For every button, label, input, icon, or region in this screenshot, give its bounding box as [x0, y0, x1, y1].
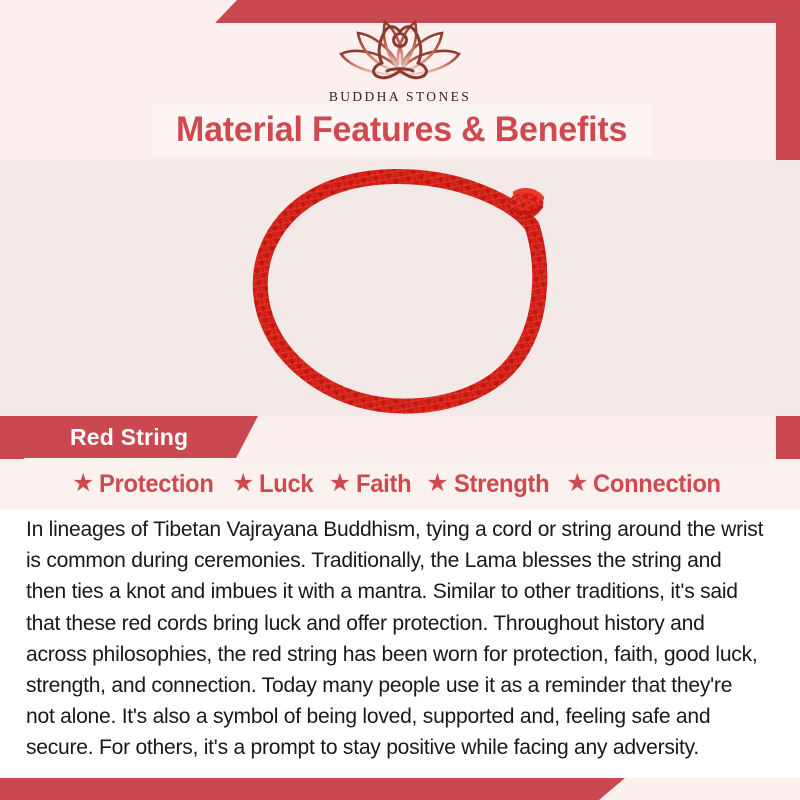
benefit-item-faith: ★ Faith — [329, 470, 415, 499]
benefit-label: Luck — [259, 470, 313, 499]
star-icon: ★ — [329, 471, 351, 496]
benefit-label: Protection — [99, 470, 214, 499]
title-banner: Material Features & Benefits — [152, 104, 652, 156]
benefit-label: Strength — [454, 470, 549, 499]
product-image-panel — [0, 160, 800, 416]
benefit-item-strength: ★ Strength — [426, 470, 554, 499]
benefit-item-connection: ★ Connection — [566, 470, 728, 499]
brand-name: BUDDHA STONES — [329, 89, 471, 105]
benefits-row: ★ Protection ★ Luck ★ Faith ★ Strength ★… — [0, 459, 800, 509]
brand-logo: BUDDHA STONES — [0, 14, 800, 105]
product-label: Red String — [70, 424, 188, 451]
frame-bar-bottom — [0, 778, 625, 800]
star-icon: ★ — [426, 471, 448, 496]
page-title: Material Features & Benefits — [176, 110, 627, 150]
benefit-label: Faith — [356, 470, 411, 499]
star-icon: ★ — [232, 471, 254, 496]
star-icon: ★ — [566, 471, 588, 496]
description-paragraph: In lineages of Tibetan Vajrayana Buddhis… — [26, 514, 765, 764]
benefit-item-luck: ★ Luck — [232, 470, 317, 499]
benefit-item-protection: ★ Protection — [72, 470, 220, 499]
benefit-label: Connection — [593, 470, 721, 499]
star-icon: ★ — [72, 471, 94, 496]
description-panel: In lineages of Tibetan Vajrayana Buddhis… — [0, 509, 800, 778]
infographic-page: BUDDHA STONES Material Features & Benefi… — [0, 0, 800, 800]
bracelet-knot — [506, 185, 547, 222]
lotus-meditation-icon — [325, 14, 475, 86]
red-braided-string-bracelet — [232, 168, 592, 416]
product-label-banner: Red String — [0, 416, 258, 458]
